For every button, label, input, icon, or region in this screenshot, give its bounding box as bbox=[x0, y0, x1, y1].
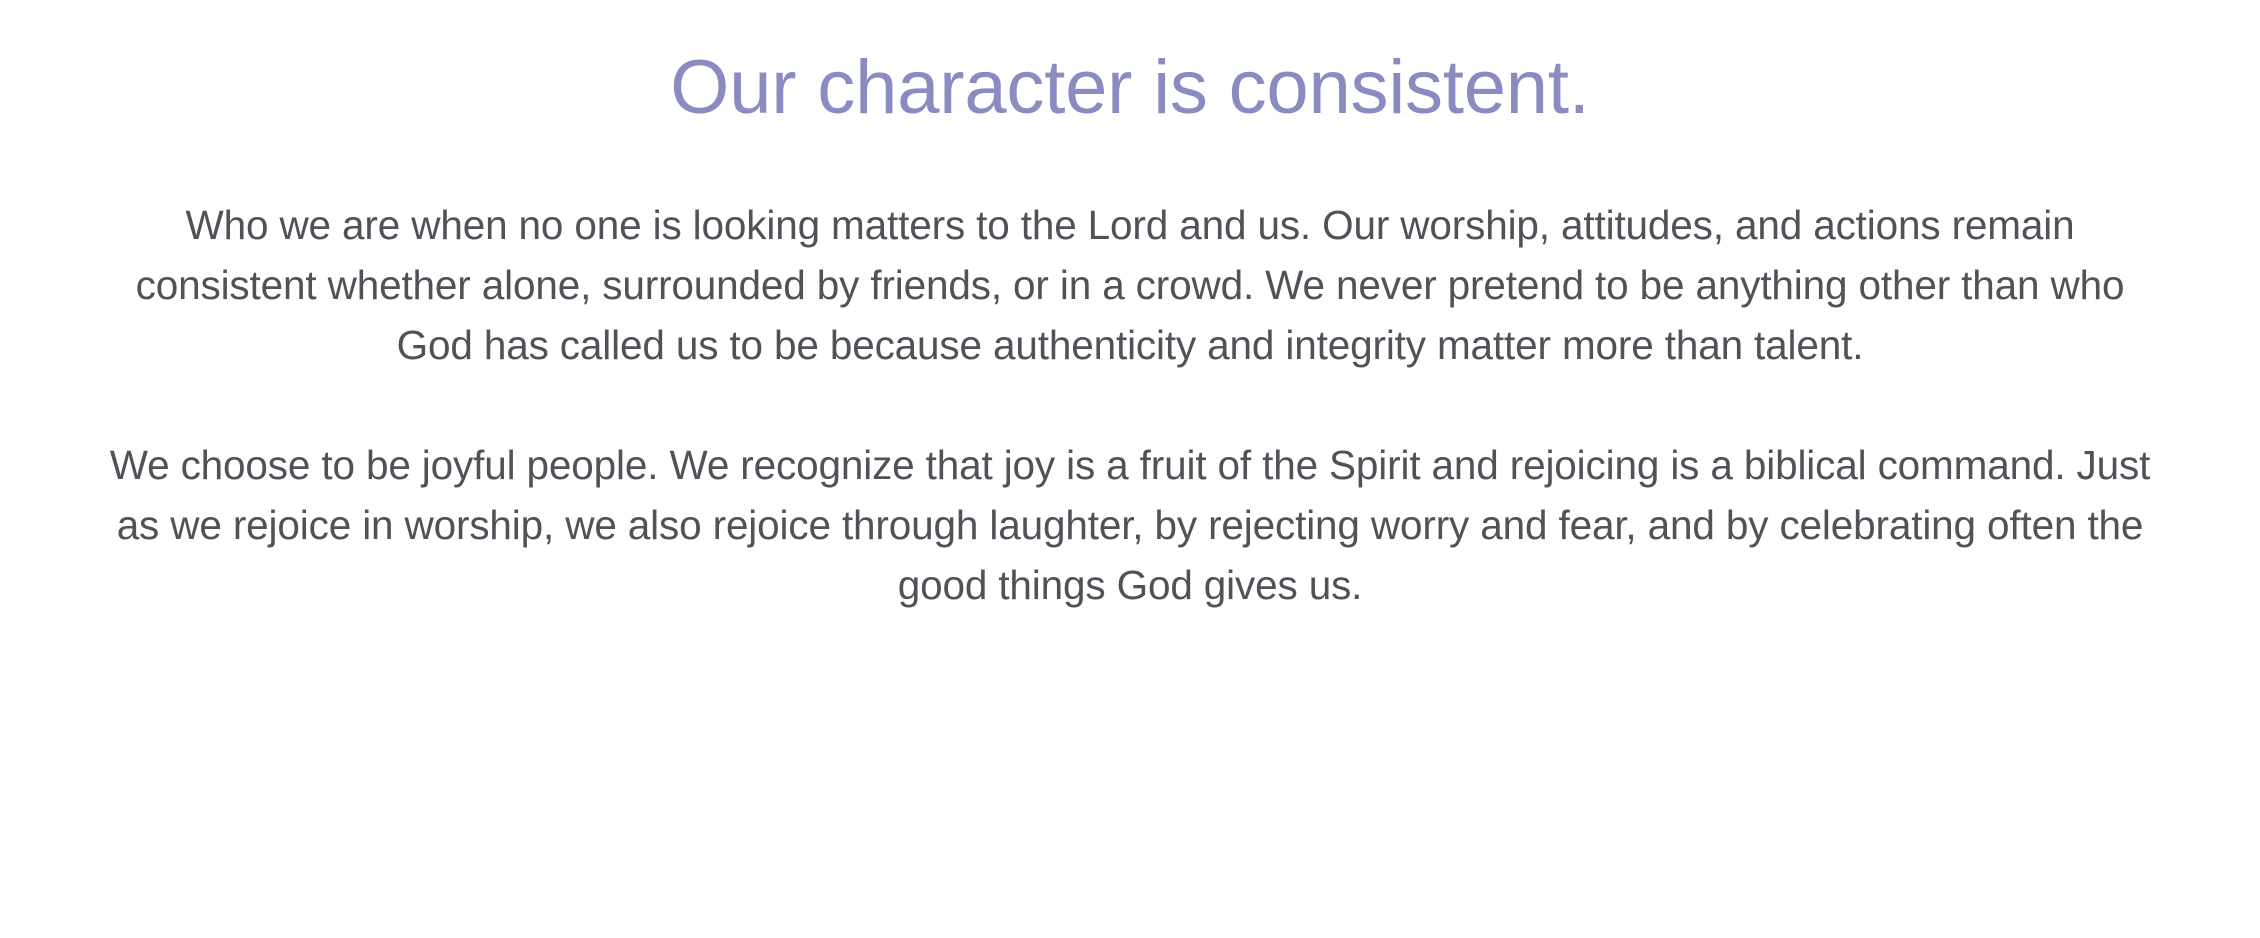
body-copy: Who we are when no one is looking matter… bbox=[95, 135, 2165, 615]
page-root: Our character is consistent. Who we are … bbox=[0, 0, 2260, 938]
paragraph-consistency: Who we are when no one is looking matter… bbox=[95, 195, 2165, 375]
content-block: Our character is consistent. Who we are … bbox=[0, 0, 2260, 615]
paragraph-joy: We choose to be joyful people. We recogn… bbox=[95, 435, 2165, 615]
page-title: Our character is consistent. bbox=[95, 42, 2165, 135]
